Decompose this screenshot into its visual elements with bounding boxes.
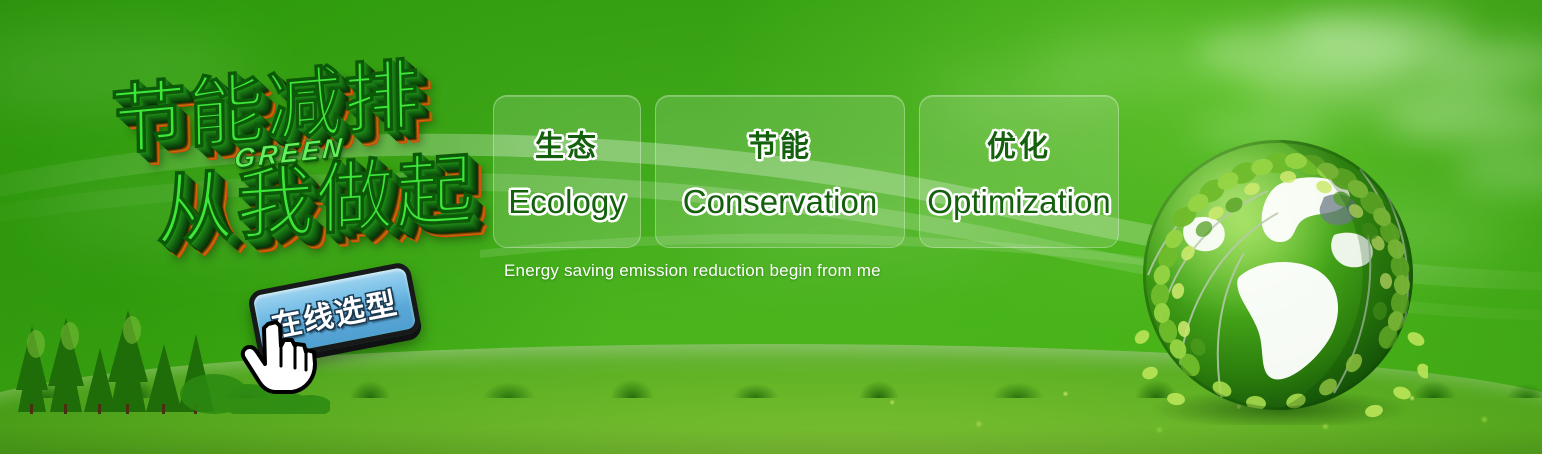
feature-label-cn: 优化 [987, 123, 1051, 165]
green-banner: 节能减排 从我做起 GREEN 在线选型 生态 Ecology 节能 Conse… [0, 0, 1542, 454]
tagline-text: Energy saving emission reduction begin f… [504, 261, 881, 281]
feature-label-cn: 生态 [535, 123, 599, 165]
feature-label-en: Ecology [508, 183, 625, 221]
feature-label-en: Optimization [927, 183, 1110, 221]
feature-box-optimization[interactable]: 优化 Optimization [919, 95, 1119, 248]
feature-box-conservation[interactable]: 节能 Conservation [655, 95, 905, 248]
hero-title-3d: 节能减排 从我做起 GREEN [104, 40, 484, 270]
feature-box-ecology[interactable]: 生态 Ecology [493, 95, 641, 248]
feature-box-group: 生态 Ecology 节能 Conservation 优化 Optimizati… [493, 95, 1119, 248]
feature-label-en: Conservation [683, 183, 877, 221]
feature-label-cn: 节能 [748, 123, 812, 165]
leaf-covered-globe [1128, 125, 1428, 425]
